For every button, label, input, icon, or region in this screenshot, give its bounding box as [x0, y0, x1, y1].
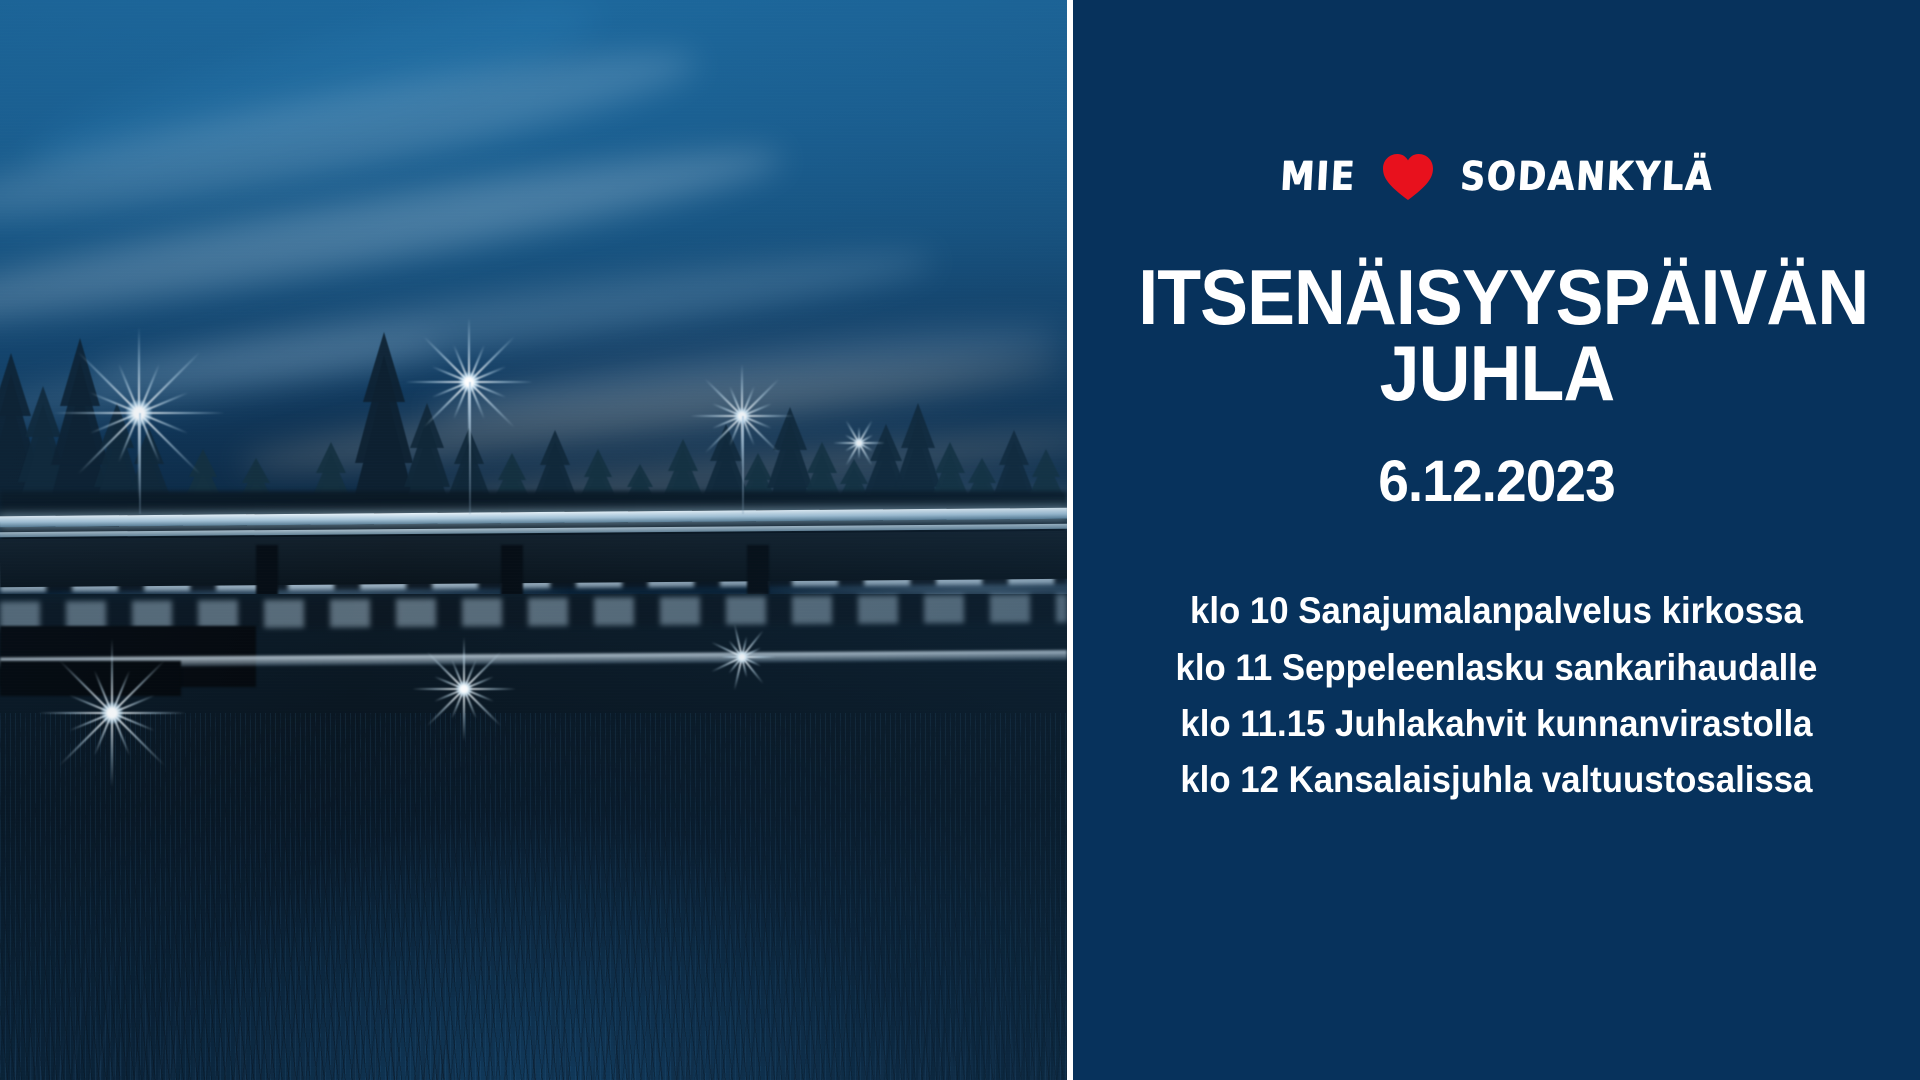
grass-blade [842, 964, 848, 1080]
grass-blade [831, 928, 848, 1079]
grass-blade [166, 999, 173, 1080]
grass-blade [874, 1052, 879, 1080]
grass-blade [671, 1060, 675, 1080]
grass-blade [98, 920, 119, 1080]
grass-blade [741, 929, 755, 1080]
grass-blade [534, 1018, 536, 1080]
grass-blade [467, 948, 472, 1080]
grass-blade [504, 980, 510, 1080]
grass-blade [422, 1014, 427, 1080]
grass-blade [926, 943, 932, 1080]
grass-blade [1034, 1052, 1037, 1080]
grass-blade [449, 1045, 455, 1080]
grass-blade [1021, 958, 1024, 1080]
grass-blade [216, 1033, 224, 1080]
grass-blade [1063, 1057, 1067, 1080]
grass-blade [33, 1000, 43, 1080]
foreground-reeds [0, 713, 1067, 1080]
grass-blade [953, 928, 964, 1080]
grass-blade [93, 992, 101, 1080]
grass-blade [72, 914, 93, 1080]
program-item: klo 12 Kansalaisjuhla valtuustosalissa [1176, 752, 1818, 808]
grass-blade [668, 1019, 674, 1080]
grass-blade [677, 1026, 685, 1080]
grass-blade [441, 1027, 449, 1080]
grass-blade [544, 1006, 548, 1080]
grass-blade [331, 932, 335, 1080]
logo-word-sodankyla: SODANKYLÄ [1459, 157, 1714, 197]
grass-blade [677, 945, 686, 1080]
grass-blade [647, 955, 653, 1080]
lamp-post [469, 382, 471, 514]
program-list: klo 10 Sanajumalanpalvelus kirkossa klo … [1176, 583, 1818, 808]
grass-blade [989, 957, 998, 1080]
grass-blade [374, 975, 386, 1079]
grass-blade [219, 968, 225, 1080]
grass-blade [682, 1020, 690, 1080]
grass-blade [167, 975, 169, 1080]
grass-blade [296, 1055, 300, 1080]
grass-blade [891, 997, 900, 1080]
grass-blade [839, 1037, 842, 1080]
grass-blade [58, 1028, 65, 1080]
grass-blade [1035, 974, 1044, 1080]
grass-blade [890, 1057, 892, 1080]
grass-blade [861, 965, 867, 1080]
grass-blade [390, 1022, 399, 1080]
grass-blade [240, 943, 244, 1080]
grass-blade [255, 1000, 263, 1080]
grass-blade [918, 1047, 924, 1080]
grass-blade [958, 953, 966, 1080]
grass-blade [490, 996, 493, 1080]
event-date: 6.12.2023 [1378, 453, 1615, 511]
grass-blade [616, 996, 619, 1080]
grass-blade [688, 926, 695, 1080]
grass-blade [728, 1040, 730, 1080]
grass-blade [991, 957, 994, 1080]
grass-blade [549, 961, 560, 1080]
grass-blade [367, 1030, 372, 1080]
grass-blade [98, 946, 112, 1080]
grass-blade [811, 971, 818, 1080]
grass-blade [527, 1057, 530, 1080]
grass-blade [871, 1004, 882, 1080]
grass-blade [1052, 1024, 1060, 1080]
grass-blade [857, 962, 869, 1080]
grass-blade [944, 989, 956, 1080]
program-item: klo 10 Sanajumalanpalvelus kirkossa [1176, 583, 1818, 639]
grass-blade [101, 1033, 104, 1080]
grass-blade [373, 934, 384, 1080]
grass-blade [902, 1050, 905, 1080]
grass-blade [552, 1006, 557, 1080]
spruce-treeline [0, 205, 1067, 529]
grass-blade [839, 945, 851, 1080]
grass-blade [949, 975, 953, 1080]
grass-blade [31, 1023, 34, 1080]
grass-blade [58, 1024, 64, 1080]
grass-blade [436, 1045, 442, 1080]
grass-blade [1059, 1037, 1062, 1080]
grass-blade [707, 946, 725, 1079]
grass-blade [225, 985, 229, 1080]
grass-blade [650, 912, 666, 1079]
grass-blade [893, 1040, 896, 1080]
grass-blade [617, 932, 630, 1080]
page-title: ITSENÄISYYSPÄIVÄN JUHLA [1138, 260, 1856, 411]
grass-blade [881, 999, 890, 1080]
grass-blade [797, 915, 816, 1080]
grass-blade [1032, 1031, 1038, 1080]
grass-blade [96, 1050, 99, 1080]
grass-blade [531, 986, 535, 1080]
grass-blade [906, 1043, 909, 1080]
grass-blade [558, 1009, 564, 1080]
grass-blade [235, 1010, 241, 1080]
grass-blade [626, 1035, 629, 1080]
grass-blade [739, 1016, 748, 1080]
grass-blade [324, 952, 341, 1079]
grass-blade [432, 966, 442, 1080]
grass-blade [267, 1013, 270, 1080]
grass-blade [172, 980, 183, 1080]
grass-blade [300, 1042, 304, 1080]
grass-blade [272, 963, 283, 1080]
grass-blade [144, 1017, 152, 1080]
grass-blade [585, 1034, 590, 1080]
program-item: klo 11.15 Juhlakahvit kunnanvirastolla [1176, 696, 1818, 752]
grass-blade [462, 920, 472, 1080]
grass-blade [305, 1039, 307, 1080]
grass-blade [1044, 953, 1055, 1080]
grass-blade [169, 931, 181, 1080]
grass-blade [879, 995, 884, 1080]
grass-blade [194, 1052, 198, 1080]
grass-blade [772, 915, 784, 1080]
grass-blade [10, 1022, 18, 1080]
grass-blade [551, 922, 554, 1080]
grass-blade [819, 928, 823, 1080]
poster: MIE SODANKYLÄ ITSENÄISYYSPÄIVÄN JUHLA 6.… [0, 0, 1920, 1080]
grass-blade [1002, 958, 1016, 1079]
grass-blade [30, 1026, 38, 1080]
grass-blade [635, 941, 642, 1080]
grass-blade [271, 975, 277, 1080]
grass-blade [754, 960, 757, 1080]
grass-blade [898, 1017, 900, 1080]
grass-blade [354, 1019, 361, 1080]
grass-blade [107, 1006, 116, 1080]
grass-blade [128, 981, 133, 1080]
grass-blade [880, 997, 884, 1080]
grass-blade [862, 918, 876, 1079]
grass-blade [420, 1043, 425, 1080]
grass-blade [135, 999, 142, 1080]
grass-blade [119, 1023, 121, 1080]
grass-blade [902, 1006, 909, 1080]
grass-blade [331, 1045, 334, 1080]
night-bridge-photo [0, 0, 1067, 1080]
grass-blade [777, 940, 786, 1080]
grass-blade [989, 944, 1000, 1080]
grass-blade [615, 977, 629, 1080]
grass-blade [435, 1024, 438, 1080]
grass-blade [919, 936, 931, 1080]
grass-blade [838, 916, 855, 1079]
grass-blade [159, 914, 178, 1080]
grass-blade [721, 1057, 725, 1080]
grass-blade [730, 978, 739, 1080]
grass-blade [1031, 930, 1037, 1080]
grass-blade [784, 988, 790, 1080]
grass-blade [134, 1050, 139, 1080]
grass-blade [433, 974, 445, 1080]
grass-blade [112, 967, 125, 1080]
grass-blade [619, 950, 625, 1080]
grass-blade [353, 955, 355, 1080]
grass-blade [745, 967, 752, 1080]
grass-blade [85, 926, 97, 1079]
grass-blade [1046, 1012, 1052, 1080]
grass-blade [320, 998, 328, 1080]
heart-icon [1382, 153, 1434, 201]
grass-blade [284, 997, 293, 1080]
grass-blade [675, 959, 685, 1080]
grass-blade [302, 1049, 307, 1080]
bridge-deck [0, 530, 1067, 586]
grass-blade [70, 957, 76, 1080]
grass-blade [963, 1006, 973, 1080]
lamp-post [139, 413, 141, 515]
grass-blade [780, 943, 788, 1080]
title-line-2: JUHLA [1379, 329, 1614, 417]
grass-blade [980, 1053, 984, 1080]
grass-blade [562, 1057, 566, 1080]
grass-blade [13, 971, 20, 1080]
grass-blade [555, 926, 569, 1080]
grass-blade [173, 913, 186, 1080]
grass-blade [745, 922, 753, 1080]
grass-blade [383, 960, 396, 1080]
grass-blade [707, 982, 710, 1080]
grass-blade [665, 924, 679, 1080]
grass-blade [718, 992, 724, 1080]
grass-blade [923, 1030, 931, 1080]
grass-blade [611, 1020, 620, 1079]
grass-blade [811, 991, 815, 1080]
grass-blade [167, 1002, 170, 1080]
grass-blade [613, 1036, 618, 1080]
grass-blade [359, 1050, 363, 1080]
grass-blade [431, 1004, 435, 1080]
grass-blade [236, 933, 245, 1080]
grass-blade [820, 1053, 823, 1080]
grass-blade [968, 1002, 973, 1080]
grass-blade [986, 964, 989, 1080]
grass-blade [780, 1020, 783, 1080]
grass-blade [141, 911, 145, 1080]
grass-blade [839, 1005, 843, 1080]
grass-blade [877, 954, 891, 1080]
grass-blade [917, 970, 932, 1079]
grass-blade [265, 913, 274, 1080]
grass-blade [864, 984, 873, 1080]
grass-blade [696, 1029, 704, 1080]
grass-blade [104, 911, 112, 1080]
grass-blade [707, 985, 713, 1080]
grass-blade [1010, 1023, 1013, 1080]
grass-blade [756, 932, 774, 1079]
grass-blade [158, 1055, 160, 1080]
grass-blade [880, 989, 893, 1079]
grass-blade [0, 1032, 7, 1080]
grass-blade [234, 1041, 240, 1080]
grass-blade [592, 975, 601, 1080]
grass-blade [294, 910, 301, 1079]
lamp-post [742, 416, 744, 514]
grass-blade [797, 1032, 802, 1080]
grass-blade [690, 1017, 699, 1080]
grass-blade [809, 994, 818, 1080]
grass-blade [487, 936, 496, 1080]
grass-blade [92, 967, 100, 1080]
grass-blade [814, 1011, 820, 1080]
grass-blade [36, 1012, 42, 1080]
grass-blade [437, 937, 451, 1080]
grass-blade [699, 965, 702, 1080]
grass-blade [459, 966, 465, 1080]
grass-blade [643, 925, 663, 1080]
grass-blade [795, 968, 807, 1080]
grass-blade [833, 1024, 838, 1080]
grass-blade [414, 916, 417, 1080]
grass-blade [138, 934, 152, 1079]
grass-blade [857, 1002, 859, 1080]
grass-blade [668, 1020, 676, 1080]
grass-blade [192, 1008, 196, 1080]
grass-blade [857, 1032, 864, 1080]
grass-blade [344, 918, 360, 1080]
grass-blade [89, 1038, 93, 1080]
grass-blade [256, 997, 262, 1080]
dark-shore-shadow [0, 661, 181, 696]
grass-blade [643, 931, 650, 1080]
grass-blade [771, 929, 786, 1079]
grass-blade [504, 983, 513, 1080]
grass-blade [938, 937, 948, 1080]
program-item: klo 11 Seppeleenlasku sankarihaudalle [1176, 640, 1818, 696]
logo-word-mie: MIE [1279, 157, 1357, 197]
grass-blade [918, 996, 922, 1080]
info-panel: MIE SODANKYLÄ ITSENÄISYYSPÄIVÄN JUHLA 6.… [1073, 0, 1920, 1080]
grass-blade [949, 1038, 956, 1080]
grass-blade [955, 967, 963, 1080]
grass-blade [449, 1017, 457, 1079]
grass-blade [796, 1011, 799, 1080]
grass-blade [286, 1033, 293, 1080]
grass-blade [238, 966, 242, 1080]
grass-blade [245, 959, 249, 1080]
grass-blade [679, 979, 681, 1080]
grass-blade [439, 960, 451, 1080]
grass-blade [712, 1034, 718, 1080]
grass-blade [695, 963, 702, 1080]
grass-blade [905, 1014, 910, 1080]
grass-blade [477, 919, 496, 1080]
grass-blade [560, 988, 568, 1080]
grass-blade [236, 1011, 246, 1080]
grass-blade [437, 1034, 442, 1080]
grass-blade [417, 999, 425, 1080]
grass-blade [602, 928, 621, 1079]
grass-blade [584, 963, 593, 1080]
grass-blade [675, 974, 685, 1080]
grass-blade [689, 978, 702, 1080]
grass-blade [234, 989, 244, 1080]
grass-blade [294, 987, 299, 1080]
grass-blade [948, 1045, 952, 1080]
mie-sodankyla-logo: MIE SODANKYLÄ [1280, 150, 1713, 204]
grass-blade [306, 996, 317, 1080]
grass-blade [784, 916, 796, 1079]
grass-blade [785, 1054, 788, 1080]
grass-blade [992, 932, 1011, 1080]
grass-blade [582, 1002, 584, 1080]
grass-blade [678, 957, 688, 1080]
